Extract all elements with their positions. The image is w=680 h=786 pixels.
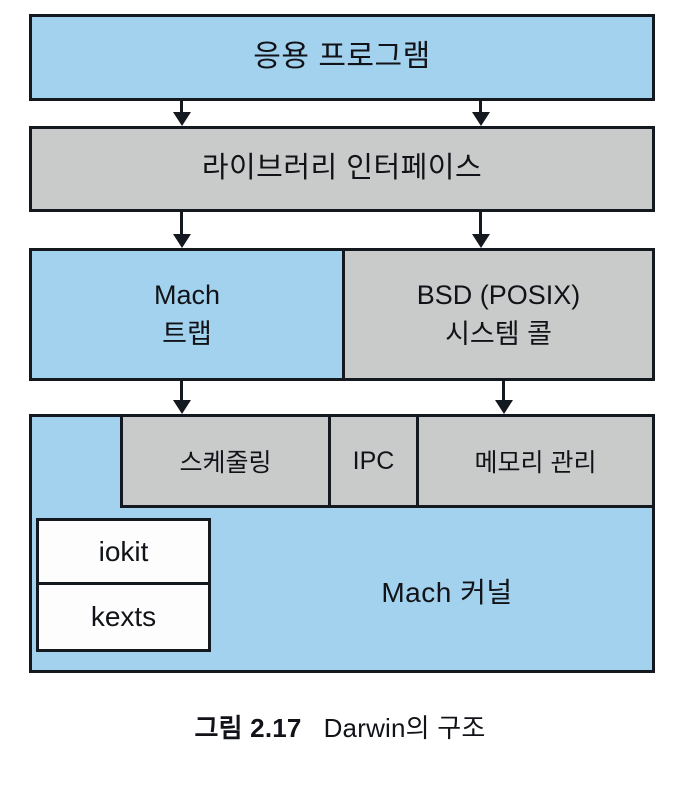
arrow-library-to-bsd-posix [479, 212, 482, 235]
kernel-service-ipc: IPC [331, 417, 419, 505]
library-interface-layer-label: 라이브러리 인터페이스 [202, 150, 482, 187]
kernel-driver-kexts: kexts [39, 585, 208, 649]
application-layer-label: 응용 프로그램 [253, 38, 430, 76]
arrow-application-to-library-left [180, 101, 183, 113]
mach-kernel-title-label: Mach 커널 [381, 571, 512, 611]
mach-kernel-title: Mach 커널 [242, 511, 652, 670]
application-layer-box: 응용 프로그램 [29, 14, 655, 101]
library-interface-layer-box: 라이브러리 인터페이스 [29, 126, 655, 212]
darwin-architecture-diagram: 응용 프로그램 라이브러리 인터페이스 Mach 트랩 BSD (POSIX) … [0, 0, 680, 786]
kernel-service-scheduling: 스케줄링 [123, 417, 331, 505]
kernel-services-strip: 스케줄링 IPC 메모리 관리 [120, 414, 655, 508]
mach-kernel-box: 스케줄링 IPC 메모리 관리 iokit kexts Mach 커널 [29, 414, 655, 673]
syscall-layer-row: Mach 트랩 BSD (POSIX) 시스템 콜 [29, 248, 655, 381]
kernel-service-memory-management-label: 메모리 관리 [475, 443, 597, 479]
kernel-driver-kexts-label: kexts [91, 601, 156, 633]
arrow-library-to-mach-trap [180, 212, 183, 235]
kernel-service-memory-management: 메모리 관리 [419, 417, 652, 505]
figure-caption: 그림 2.17Darwin의 구조 [0, 708, 680, 745]
figure-caption-number: 그림 2.17 [195, 713, 302, 743]
kernel-service-scheduling-label: 스케줄링 [179, 443, 271, 479]
mach-trap-box: Mach 트랩 [32, 251, 345, 378]
figure-caption-title: Darwin의 구조 [324, 713, 486, 743]
arrow-application-to-library-right [479, 101, 482, 113]
kernel-driver-stack: iokit kexts [36, 518, 211, 652]
mach-trap-label-line2: 트랩 [162, 315, 212, 353]
kernel-driver-iokit: iokit [39, 521, 208, 585]
arrow-bsd-posix-to-kernel [502, 381, 505, 401]
kernel-driver-iokit-label: iokit [99, 536, 149, 568]
arrow-mach-trap-to-kernel [180, 381, 183, 401]
mach-trap-label-line1: Mach [154, 276, 220, 314]
kernel-service-ipc-label: IPC [353, 447, 395, 476]
bsd-posix-label-line2: 시스템 콜 [445, 315, 552, 353]
bsd-posix-label-line1: BSD (POSIX) [417, 276, 581, 314]
bsd-posix-syscall-box: BSD (POSIX) 시스템 콜 [345, 251, 652, 378]
